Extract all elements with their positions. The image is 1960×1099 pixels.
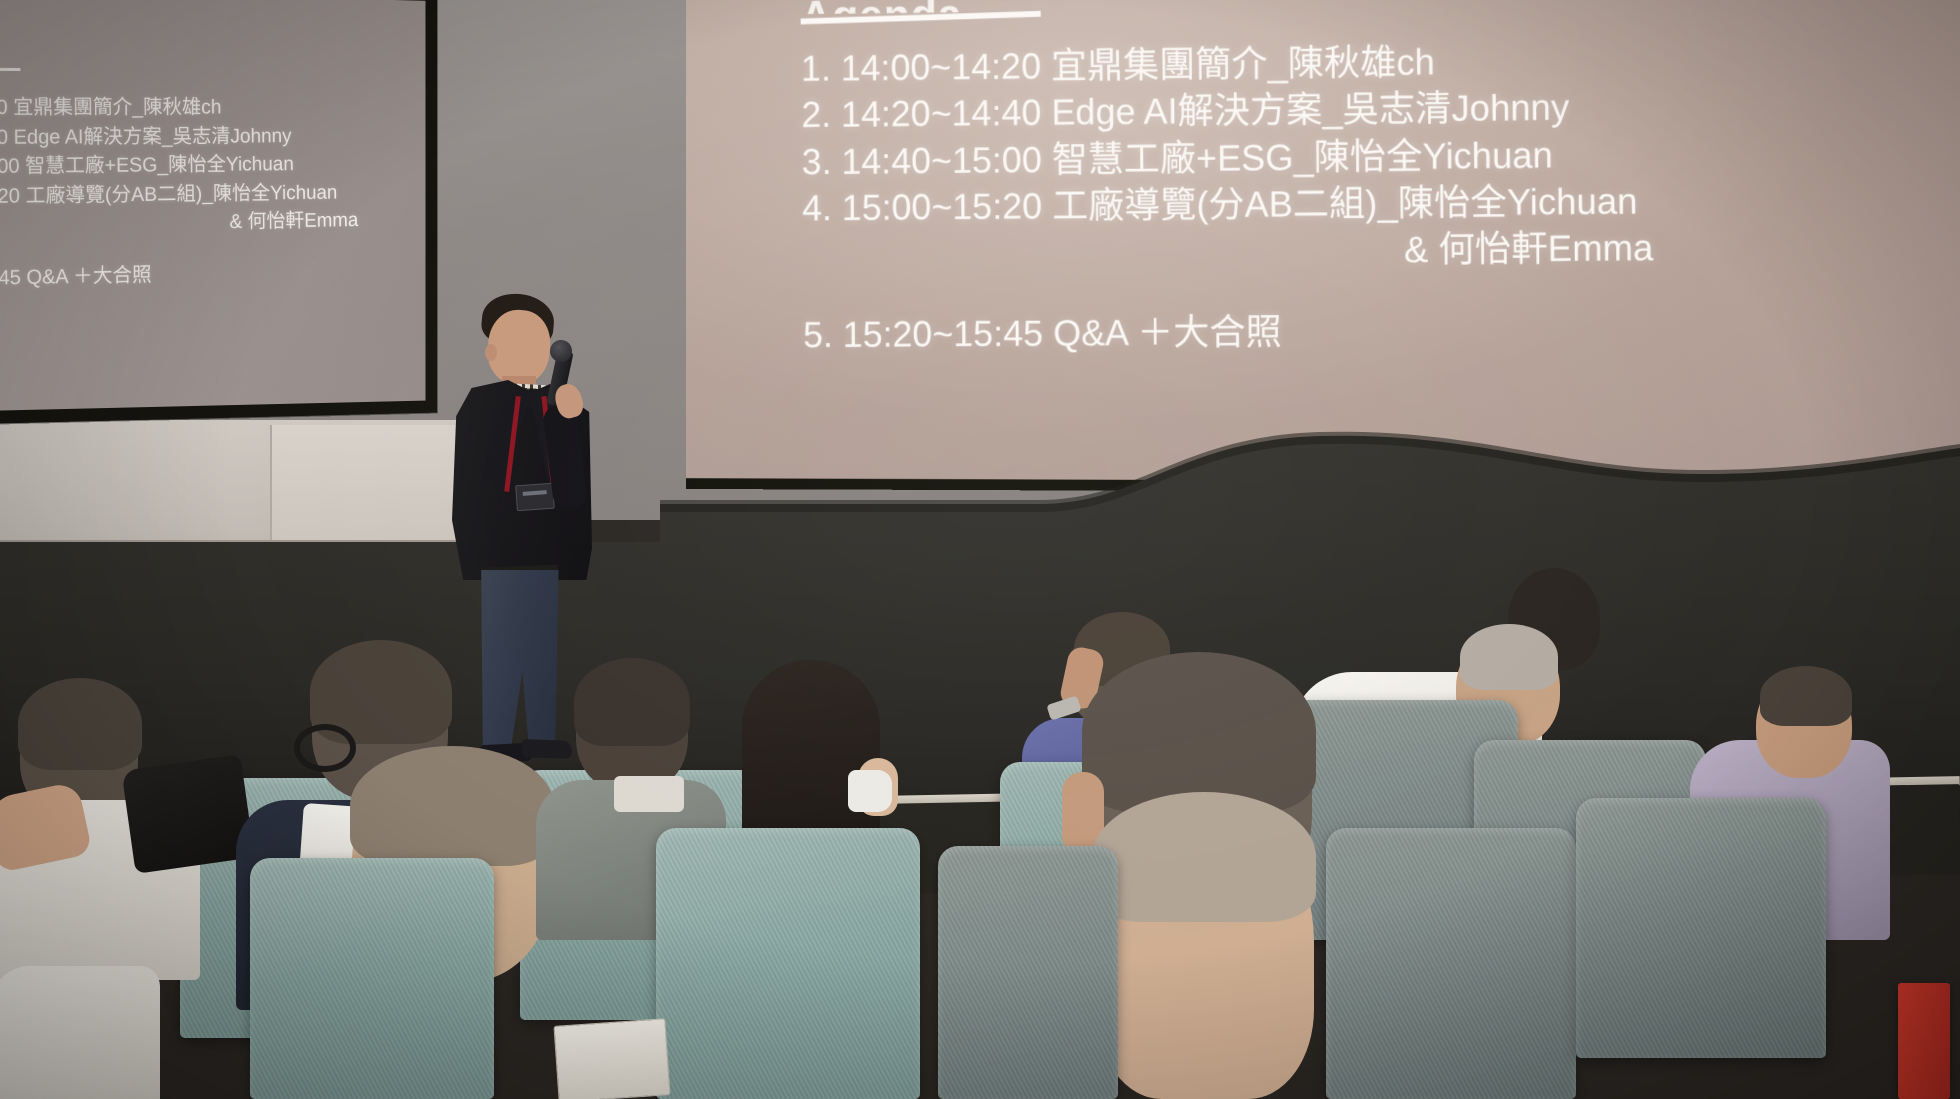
agenda-item-continuation: & 何怡軒Emma [802,222,1960,278]
audience-hair [1460,624,1558,690]
audience-sleeve [0,966,160,1099]
secondary-slide: ： :20 宜鼎集團簡介_陳秋雄ch :40 Edge AI解決方案_吳志清Jo… [0,0,427,293]
agenda-item: 5. 15:20~15:45 Q&A ＋大合照 [803,304,1960,359]
audience-collar [614,776,684,812]
audience-seat [1326,828,1576,1099]
presenter-jeans [476,570,562,752]
handout-paper [553,1018,670,1099]
audience-hair [1082,652,1316,812]
audience-seat [938,846,1118,1099]
audience-seat [656,828,920,1099]
red-sign-card [1898,983,1950,1099]
audience-hair [1092,792,1316,922]
secondary-slide-line: 5:00 智慧工廠+ESG_陳怡全Yichuan [0,149,426,181]
audience-hair [18,678,142,770]
face-mask-icon [848,770,892,812]
conference-photo-scene: ： :20 宜鼎集團簡介_陳秋雄ch :40 Edge AI解決方案_吳志清Jo… [0,0,1960,1099]
presenter-ear [485,344,497,361]
secondary-slide-title-rule [0,68,20,71]
audience-hair [1760,666,1852,726]
presenter-id-badge [515,483,555,512]
audience-seat [250,858,494,1099]
audience-hair [574,658,690,746]
secondary-slide-line: :40 Edge AI解決方案_吳志清Johnny [0,121,426,152]
agenda-slide: Agenda 1. 14:00~14:20 宜鼎集團簡介_陳秋雄ch 2. 14… [686,0,1960,359]
primary-projection-screen: Agenda 1. 14:00~14:20 宜鼎集團簡介_陳秋雄ch 2. 14… [686,0,1960,494]
secondary-projection-screen: ： :20 宜鼎集團簡介_陳秋雄ch :40 Edge AI解決方案_吳志清Jo… [0,0,437,424]
audience-hair [350,746,554,866]
audience-seat [1576,798,1826,1058]
secondary-slide-title-fragment: ： [0,39,425,66]
presenter-shoe [522,739,573,759]
secondary-slide-line: :20 宜鼎集團簡介_陳秋雄ch [0,93,425,123]
eyeglasses-icon [294,724,356,772]
audience-bag [121,754,254,874]
